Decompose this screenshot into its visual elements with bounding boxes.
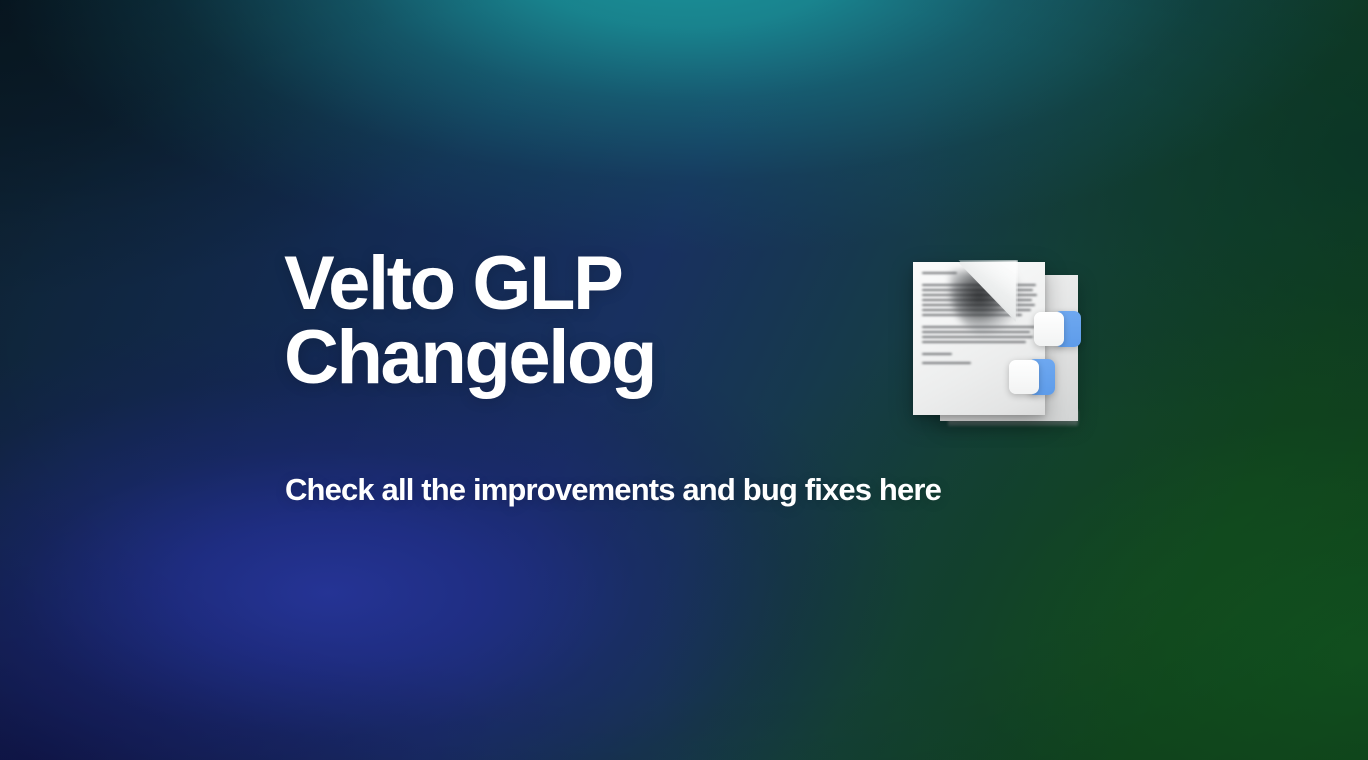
document-tab-white-upper — [1034, 312, 1064, 346]
changelog-hero-banner: Velto GLP Changelog Check all the improv… — [0, 0, 1368, 760]
document-tab-white-lower — [1009, 360, 1039, 394]
page-subtitle: Check all the improvements and bug fixes… — [285, 474, 941, 507]
document-signoff-line — [922, 353, 952, 355]
document-stack-illustration — [896, 248, 1096, 444]
document-signature-line — [922, 362, 971, 364]
document-paragraph-gap — [922, 346, 1038, 353]
